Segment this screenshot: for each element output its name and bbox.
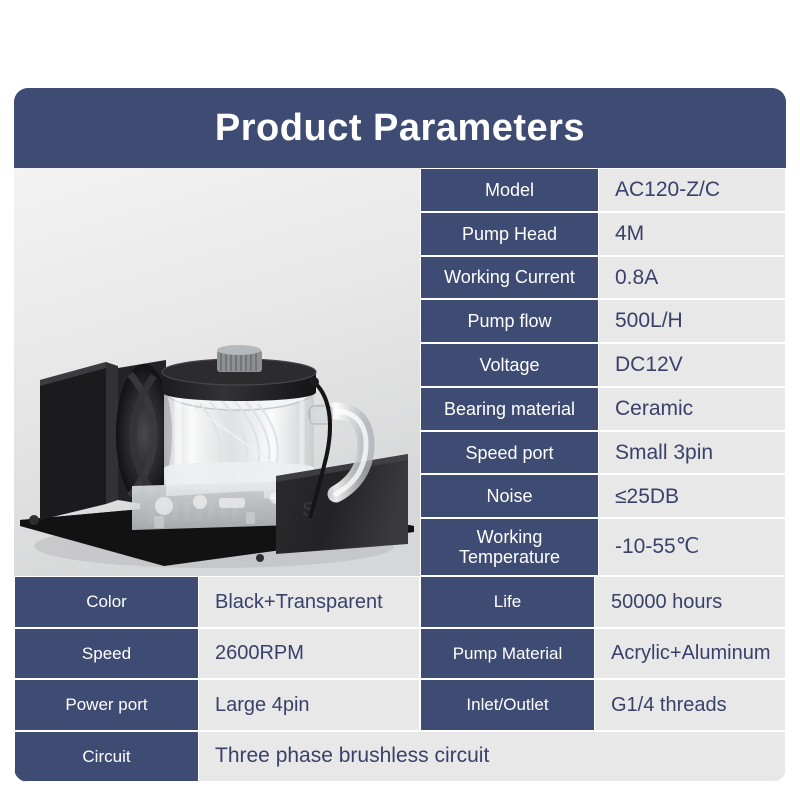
page-title: Product Parameters bbox=[215, 109, 585, 147]
spec-label: Pump flow bbox=[420, 299, 599, 343]
spec-table-bottom: Color Black+Transparent Life 50000 hours… bbox=[14, 576, 786, 782]
spec-value: Ceramic bbox=[599, 387, 786, 431]
spec-value: AC120-Z/C bbox=[599, 168, 786, 212]
spec-value: Acrylic+Aluminum bbox=[595, 628, 786, 680]
table-row: Noise ≤25DB bbox=[420, 474, 786, 518]
spec-label: Working Current bbox=[420, 256, 599, 300]
spec-value: 50000 hours bbox=[595, 576, 786, 628]
spec-value: ≤25DB bbox=[599, 474, 786, 518]
spec-value: DC12V bbox=[599, 343, 786, 387]
table-row: Color Black+Transparent Life 50000 hours bbox=[14, 576, 786, 628]
product-photo: S bbox=[14, 168, 420, 576]
table-row: Bearing material Ceramic bbox=[420, 387, 786, 431]
spec-label: Speed port bbox=[420, 431, 599, 475]
spec-label: Life bbox=[420, 576, 595, 628]
table-row: Speed port Small 3pin bbox=[420, 431, 786, 475]
spec-label: Power port bbox=[14, 679, 199, 731]
table-row: Working Temperature -10-55℃ bbox=[420, 518, 786, 576]
spec-label: Model bbox=[420, 168, 599, 212]
spec-value: G1/4 threads bbox=[595, 679, 786, 731]
spec-table-top: Model AC120-Z/C Pump Head 4M Working Cur… bbox=[420, 168, 786, 576]
spec-label: Color bbox=[14, 576, 199, 628]
product-parameters-card: Product Parameters bbox=[14, 88, 786, 782]
table-row: Working Current 0.8A bbox=[420, 256, 786, 300]
table-row: Pump flow 500L/H bbox=[420, 299, 786, 343]
spec-value: Small 3pin bbox=[599, 431, 786, 475]
header-bar: Product Parameters bbox=[14, 88, 786, 168]
spec-label: Pump Material bbox=[420, 628, 595, 680]
spec-value: 500L/H bbox=[599, 299, 786, 343]
spec-label: Bearing material bbox=[420, 387, 599, 431]
spec-value: 4M bbox=[599, 212, 786, 256]
spec-label: Circuit bbox=[14, 731, 199, 783]
spec-value: 0.8A bbox=[599, 256, 786, 300]
spec-value: Black+Transparent bbox=[199, 576, 420, 628]
spec-value: -10-55℃ bbox=[599, 518, 786, 576]
product-photo-illustration: S bbox=[14, 168, 420, 576]
spec-label: Voltage bbox=[420, 343, 599, 387]
table-row: Circuit Three phase brushless circuit bbox=[14, 731, 786, 783]
spec-label: Noise bbox=[420, 474, 599, 518]
spec-label: Speed bbox=[14, 628, 199, 680]
table-row: Model AC120-Z/C bbox=[420, 168, 786, 212]
spec-value: Large 4pin bbox=[199, 679, 420, 731]
table-row: Power port Large 4pin Inlet/Outlet G1/4 … bbox=[14, 679, 786, 731]
spec-label: Working Temperature bbox=[420, 518, 599, 576]
table-row: Speed 2600RPM Pump Material Acrylic+Alum… bbox=[14, 628, 786, 680]
spec-label: Inlet/Outlet bbox=[420, 679, 595, 731]
table-row: Voltage DC12V bbox=[420, 343, 786, 387]
table-row: Pump Head 4M bbox=[420, 212, 786, 256]
spec-value: 2600RPM bbox=[199, 628, 420, 680]
spec-label: Pump Head bbox=[420, 212, 599, 256]
spec-value: Three phase brushless circuit bbox=[199, 731, 786, 783]
